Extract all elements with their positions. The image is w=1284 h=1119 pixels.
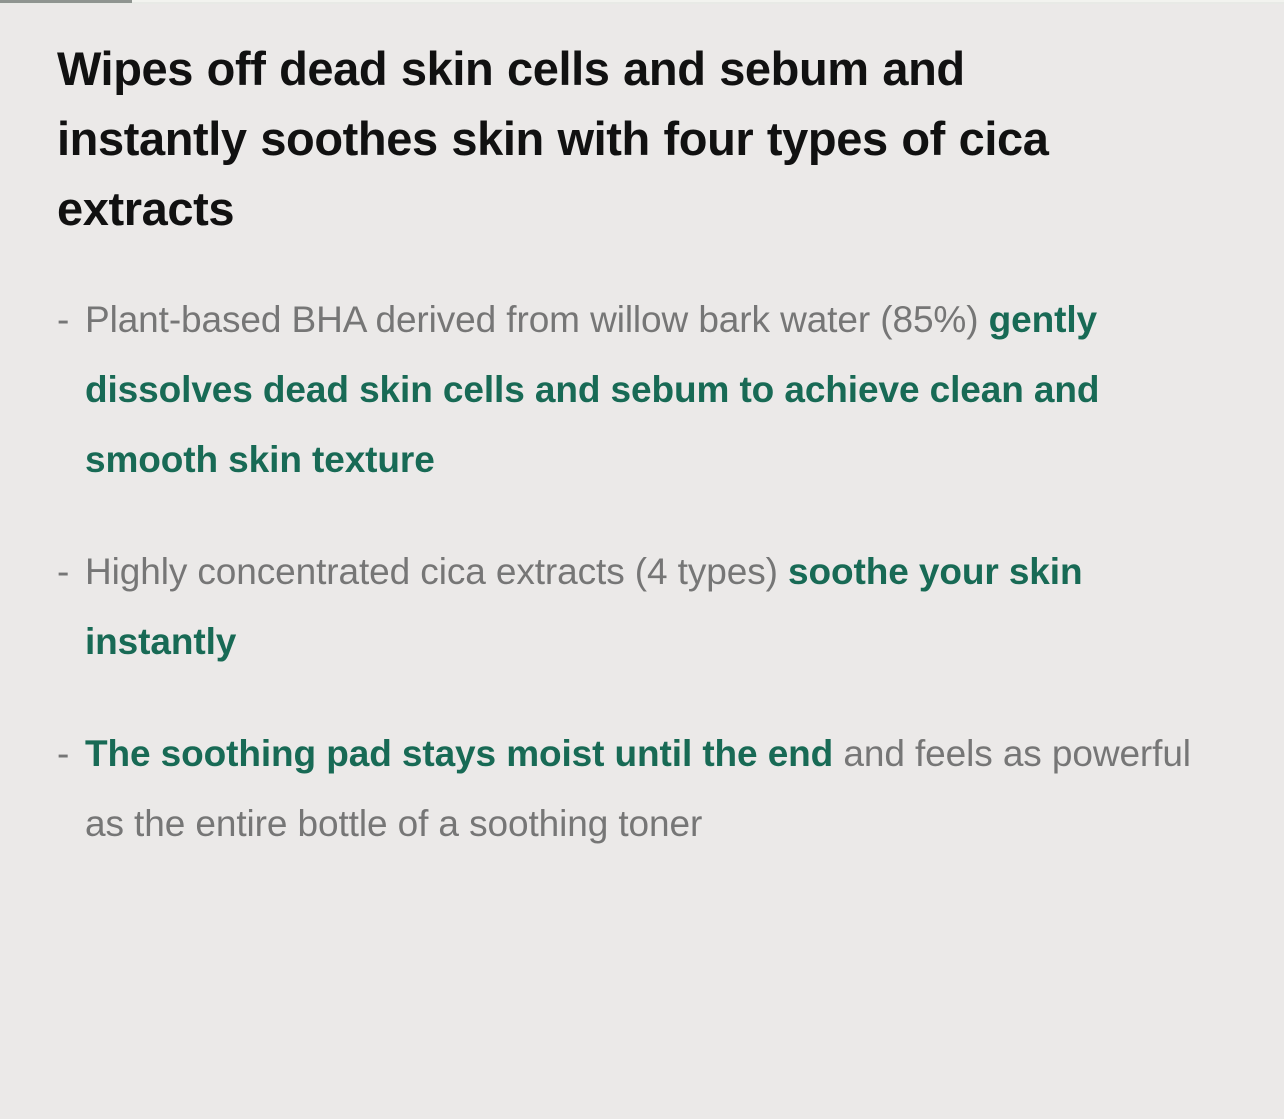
bullet-text-plain: Plant-based BHA derived from willow bark… [85, 299, 989, 340]
benefit-list: - Plant-based BHA derived from willow ba… [57, 285, 1234, 859]
bullet-text-plain: Highly concentrated cica extracts (4 typ… [85, 551, 788, 592]
bullet-marker: - [57, 537, 69, 607]
bullet-text-highlight: The soothing pad stays moist until the e… [85, 733, 833, 774]
panel-content: Wipes off dead skin cells and sebum and … [0, 0, 1284, 859]
bullet-marker: - [57, 719, 69, 789]
page-title: Wipes off dead skin cells and sebum and … [57, 34, 1067, 244]
product-benefit-panel: Wipes off dead skin cells and sebum and … [0, 0, 1284, 1119]
list-item: - Highly concentrated cica extracts (4 t… [57, 537, 1205, 677]
list-item: - Plant-based BHA derived from willow ba… [57, 285, 1205, 495]
list-item: - The soothing pad stays moist until the… [57, 719, 1205, 859]
bullet-marker: - [57, 285, 69, 355]
